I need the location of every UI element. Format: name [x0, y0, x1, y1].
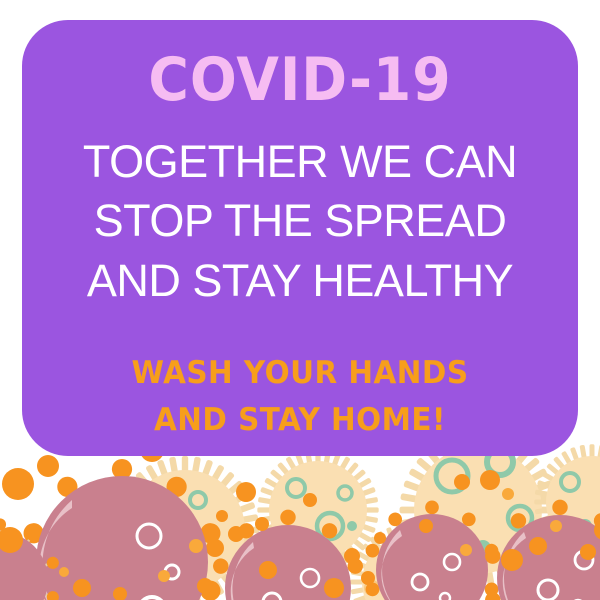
- headline-line-2: STOP THE SPREAD: [22, 191, 578, 250]
- headline-line-3: AND STAY HEALTHY: [22, 251, 578, 310]
- cta-line-2: AND STAY HOME!: [36, 397, 564, 444]
- poster-card: COVID-19 TOGETHER WE CAN STOP THE SPREAD…: [22, 20, 578, 456]
- headline-block: TOGETHER WE CAN STOP THE SPREAD AND STAY…: [22, 132, 578, 310]
- headline-line-1: TOGETHER WE CAN: [22, 132, 578, 191]
- call-to-action-block: WASH YOUR HANDS AND STAY HOME!: [36, 350, 564, 443]
- covid-poster: COVID-19 TOGETHER WE CAN STOP THE SPREAD…: [0, 0, 600, 600]
- cta-line-1: WASH YOUR HANDS: [36, 350, 564, 397]
- page-title: COVID-19: [44, 50, 556, 110]
